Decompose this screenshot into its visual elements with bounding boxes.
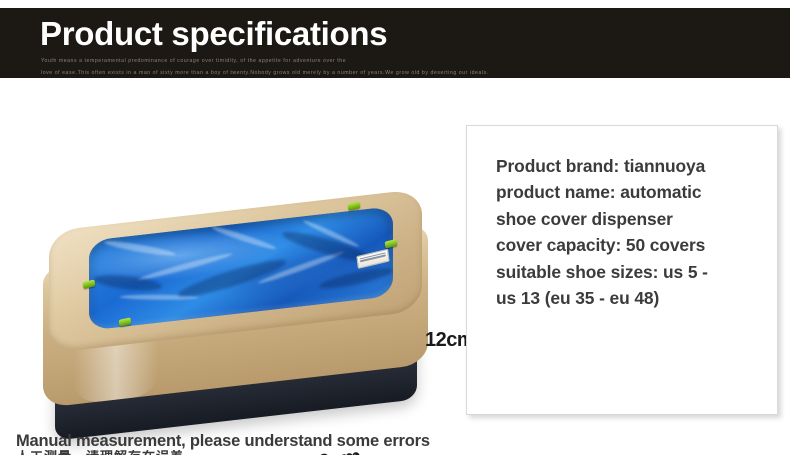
measurement-disclaimer: Manual measurement, please understand so… [16, 432, 430, 451]
spec-line-sizes-2: us 13 (eu 35 - eu 48) [496, 285, 758, 311]
spec-line-sizes-1: suitable shoe sizes: us 5 - [496, 259, 758, 285]
measurement-disclaimer-cn: 人工测量，请理解存在误差 [16, 450, 184, 455]
banner-subtitle-line-1: Youth means a temperamental predominance… [41, 56, 761, 68]
shoe-cover-dispenser-illustration [43, 210, 428, 455]
specification-text: Product brand: tiannuoya product name: a… [496, 153, 758, 311]
spec-line-capacity: cover capacity: 50 covers [496, 232, 758, 258]
header-banner: Product specifications Youth means a tem… [0, 8, 790, 78]
page-title: Product specifications [40, 14, 387, 54]
product-photo: 12cm 40cm 21cm [0, 90, 470, 420]
corner-clip-icon [385, 239, 398, 249]
banner-subtitle: Youth means a temperamental predominance… [41, 56, 761, 79]
banner-subtitle-line-2: love of ease.This often exists in a man … [41, 68, 761, 80]
product-specification-page: Product specifications Youth means a tem… [0, 0, 790, 455]
specification-panel: Product brand: tiannuoya product name: a… [466, 125, 778, 415]
spec-line-name-1: product name: automatic [496, 179, 758, 205]
spec-line-name-2: shoe cover dispenser [496, 206, 758, 232]
blue-shoe-cover-roll [89, 206, 393, 331]
spec-line-brand: Product brand: tiannuoya [496, 153, 758, 179]
